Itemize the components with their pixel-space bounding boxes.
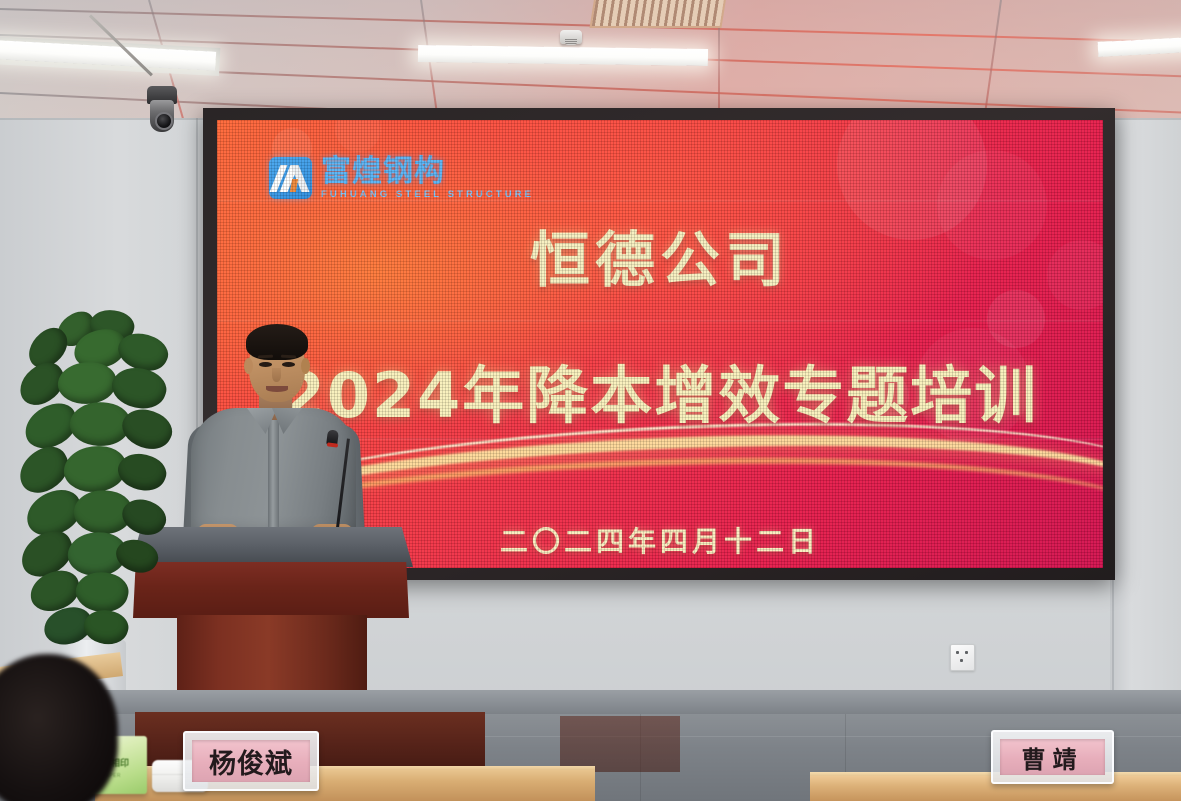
plant-leaf — [116, 400, 178, 457]
wall-panel-right — [1110, 90, 1181, 720]
conference-room-photo: 富煌钢构 FUHUANG STEEL STRUCTURE 恒德公司 2024年降… — [0, 0, 1181, 801]
outlet-hole-1 — [956, 651, 959, 654]
speaker-eye-left — [259, 362, 272, 367]
nameplate-right-card: 曹靖 — [1000, 739, 1105, 775]
logo-english-name: FUHUANG STEEL STRUCTURE — [321, 190, 534, 200]
slide-title: 恒德公司 — [217, 212, 1103, 299]
smoke-detector — [560, 30, 582, 44]
plant-leaf — [80, 604, 132, 650]
camera-lens-icon — [155, 112, 173, 130]
nameplate-right-name: 曹靖 — [1022, 740, 1084, 775]
air-vent — [589, 0, 726, 28]
slide-subtitle: 2024年降本增效专题培训 — [217, 345, 1103, 435]
logo-text-block: 富煌钢构 FUHUANG STEEL STRUCTURE — [321, 157, 534, 200]
speaker-nose — [272, 368, 281, 382]
ceiling — [0, 0, 1181, 118]
bokeh-circle-8 — [335, 120, 381, 152]
nameplate-left: 杨俊斌 — [183, 731, 319, 791]
nameplate-left-card: 杨俊斌 — [192, 740, 310, 782]
screen-scan-band-2 — [217, 320, 1103, 322]
nameplate-right: 曹靖 — [991, 730, 1114, 784]
fuhuang-logo: 富煌钢构 FUHUANG STEEL STRUCTURE — [269, 157, 534, 200]
outlet-hole-2 — [965, 651, 968, 654]
outlet-hole-3 — [960, 659, 963, 662]
speaker-ear-right — [301, 358, 310, 374]
logo-accent-orange — [290, 179, 298, 192]
speaker-shirt-placket — [268, 420, 279, 538]
plant-leaf — [57, 360, 118, 406]
potted-plant — [18, 310, 178, 670]
wall-power-outlet[interactable] — [950, 644, 975, 671]
speaker-hair — [246, 324, 308, 360]
rear-wood-counter-right — [560, 716, 680, 772]
nameplate-left-name: 杨俊斌 — [209, 742, 293, 781]
speaker-mouth — [266, 386, 288, 392]
speaker-eye-right — [282, 362, 295, 367]
speaker-ear-left — [244, 358, 253, 374]
logo-chinese-name: 富煌钢构 — [321, 157, 534, 187]
screen-scan-band-1 — [217, 200, 1103, 202]
fuhuang-logo-mark-icon — [269, 157, 312, 199]
